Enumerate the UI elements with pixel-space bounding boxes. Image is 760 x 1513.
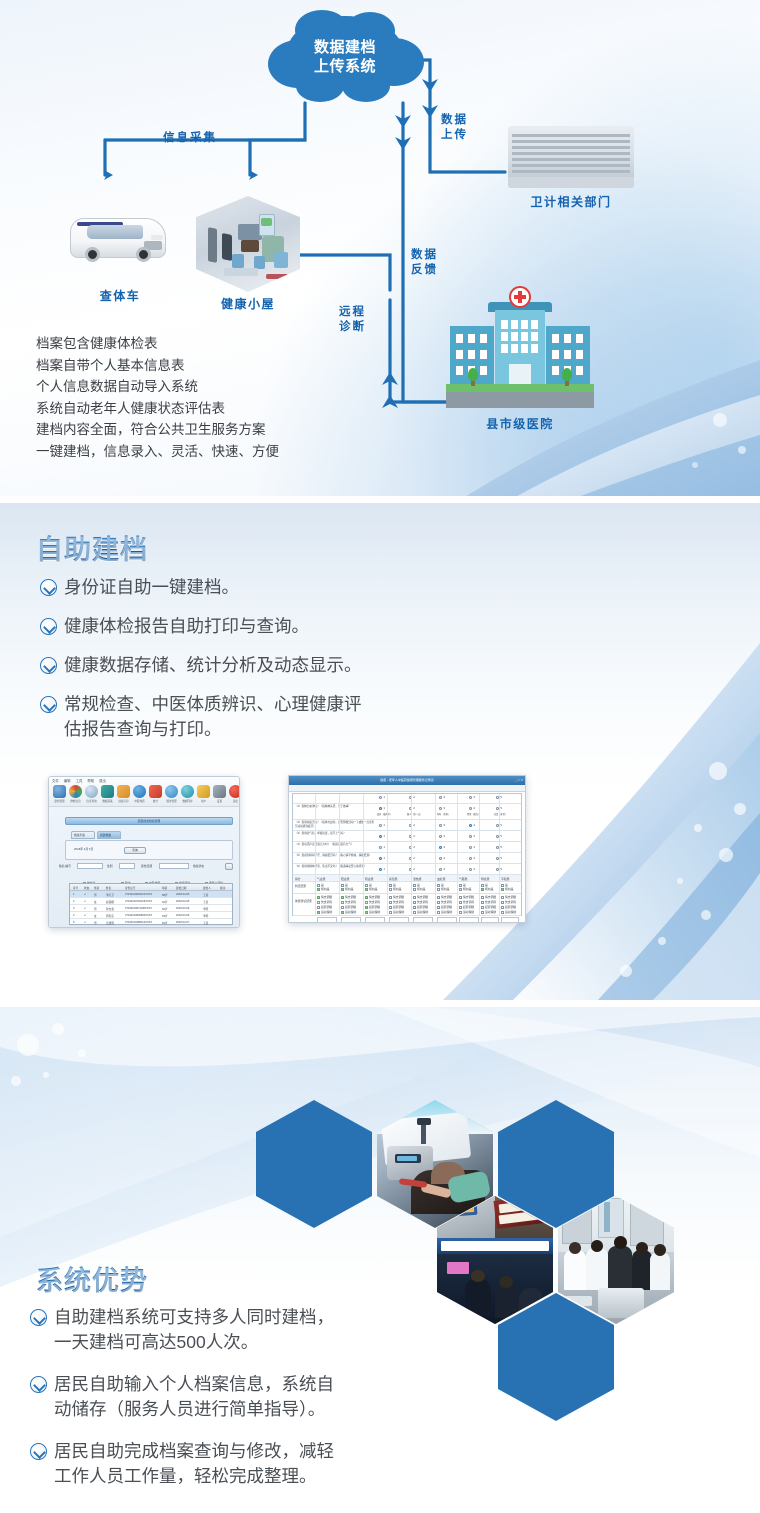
cell: 50岁: [162, 907, 167, 911]
table-row[interactable]: 1 ✔ 男 李红卫 37010219600101XXXX 58岁 2018-03…: [70, 891, 232, 898]
edge-label-collect: 信息采集: [163, 131, 217, 146]
field-label: 姓名/编号: [59, 864, 71, 868]
toolbar-button-label: 信息查询: [85, 799, 98, 803]
table-row[interactable]: 3 ✔ 男 孙志强 37010219671108XXXX 50岁 2018-03…: [70, 905, 232, 912]
hospital-cross-icon: [509, 286, 531, 308]
app-title-bar: 居民健康档案管理: [65, 817, 233, 825]
note-input[interactable]: [341, 917, 361, 923]
menu-item[interactable]: 编辑: [64, 778, 71, 783]
cell: ✔: [84, 914, 86, 917]
toolbar-button-label: 设置: [213, 799, 226, 803]
list-item: 健康体检报告自助打印与查询。: [40, 614, 510, 639]
expand-button[interactable]: [225, 863, 233, 870]
search-button[interactable]: 查询: [124, 847, 146, 854]
cell: 李明: [203, 914, 208, 918]
column-header: 序号: [73, 886, 78, 890]
question-row: （5）您感到闷闷不乐、情绪低沉吗？（指心情不愉快，情绪低落） 1 2 3 4 5: [293, 853, 521, 864]
toolbar-button[interactable]: 设置: [213, 785, 226, 803]
app-toolbar: 文件 编辑 工具 帮助 退出 建档管理 体检信息 信息查询 数据采集 档案打印 …: [49, 777, 239, 807]
flow-fact: 一键建档，信息录入、灵活、快速、方便: [36, 441, 396, 463]
toolbar-icon-row: 建档管理 体检信息 信息查询 数据采集 档案打印 中医体质 统计 随访管理 数据…: [53, 785, 240, 803]
node-label-van: 查体车: [58, 287, 182, 304]
body-type: 特禀质: [481, 877, 489, 881]
cell: 女: [94, 900, 97, 904]
cloud-node: 数据建档 上传系统: [262, 8, 428, 110]
county-hospital-image: [446, 298, 594, 408]
toolbar-button[interactable]: 体检信息: [69, 785, 82, 803]
toolbar-button-label: 体检信息: [69, 799, 82, 803]
column-header: 年龄: [162, 886, 167, 890]
cell: 男: [94, 921, 97, 925]
radio-option[interactable]: 4: [473, 806, 475, 810]
bullet-text: 身份证自助一键建档。: [64, 575, 239, 600]
node-label-county-hospital: 县市级医院: [442, 415, 598, 432]
cloud-label: 数据建档 上传系统: [262, 38, 428, 76]
cell: 37010219671108XXXX: [125, 907, 152, 910]
form-body: 1 2 3 4 5 （1）您精力充沛吗？（指精神头足，乐于做事） 1 2 3 4…: [292, 793, 522, 916]
radio-option[interactable]: 5: [500, 806, 502, 810]
cell: 63岁: [162, 914, 167, 918]
medical-van-image: [60, 200, 180, 272]
filter-panel: 2018年 4月 6日 查询: [65, 840, 233, 860]
flow-fact: 建档内容全面，符合公共卫生服务方案: [36, 419, 396, 441]
cell: ✔: [84, 921, 86, 924]
judgement-row: 判定结果 是 倾向是 是 倾向是 是 倾向是 是 倾向是 是 倾向是 是 倾向是…: [293, 882, 521, 894]
bullet-text: 健康体检报告自助打印与查询。: [64, 614, 309, 639]
tab-label: 新建档案: [100, 833, 111, 837]
toolbar-button[interactable]: 退出: [229, 785, 240, 803]
body-type-header: 得分 气虚质 阳虚质 阴虚质 痰湿质 湿热质 血瘀质 气郁质 特禀质 平和质: [293, 875, 521, 882]
filter-date-value: 2018年 4月 6日: [74, 847, 93, 851]
list-item: 自助建档系统可支持多人同时建档， 一天建档可高达500人次。: [30, 1305, 480, 1355]
cell: 王燕: [203, 900, 208, 904]
edge-label-feedback: 数据 反馈: [411, 248, 438, 278]
cell: 4: [73, 914, 74, 917]
bullet-text: 自助建档系统可支持多人同时建档， 一天建档可高达500人次。: [54, 1305, 334, 1355]
scale-option[interactable]: 5: [500, 795, 502, 799]
flow-facts-list: 档案包含健康体检表 档案自带个人基本信息表 个人信息数据自动导入系统 系统自动老…: [36, 333, 396, 463]
row-label: 得分: [295, 877, 301, 881]
advantages-bullet-list: 自助建档系统可支持多人同时建档， 一天建档可高达500人次。 居民自助输入个人档…: [30, 1305, 480, 1489]
toolbar-button-label: 用户: [197, 799, 210, 803]
health-hut-image: [196, 196, 300, 292]
toolbar-button[interactable]: 档案打印: [117, 785, 130, 803]
window-controls[interactable]: _ □ ✕: [515, 778, 523, 782]
toolbar-button-label: 建档管理: [53, 799, 66, 803]
question-row: （2）您容易疲乏吗？（指体力如何，是否稍微活动一下或做一点家务劳动就感到疲劳） …: [293, 820, 521, 831]
cell: 37010219720215XXXX: [125, 900, 152, 903]
self-service-section: 自助建档 身份证自助一键建档。 健康体检报告自助打印与查询。 健康数据存储、统计…: [0, 503, 760, 1000]
scale-option[interactable]: 4: [473, 795, 475, 799]
scale-label: 没有（根本不）: [377, 812, 392, 816]
advantages-title: 系统优势: [36, 1259, 148, 1298]
date-input[interactable]: [159, 863, 189, 869]
gender-select[interactable]: [119, 863, 135, 869]
edge-label-upload: 数据 上传: [441, 113, 468, 143]
flow-diagram-section: 数据建档 上传系统 信息采集 数据 上传 数据 反馈 远程 诊断 查体车: [0, 0, 760, 496]
edge-label-remote-diagnosis: 远程 诊断: [339, 305, 366, 335]
menu-item[interactable]: 工具: [76, 778, 83, 783]
advice-option[interactable]: 运动保健: [321, 910, 332, 914]
body-type: 痰湿质: [389, 877, 397, 881]
menu-item[interactable]: 帮助: [87, 778, 94, 783]
cell: 1: [73, 893, 74, 896]
list-item: 居民自助输入个人档案信息，系统自 动储存（服务人员进行简单指导）。: [30, 1372, 480, 1422]
section-divider-1: [0, 496, 760, 503]
cell: 37010219480612XXXX: [125, 921, 152, 924]
advantages-section: 系统优势 自助建档系统可支持多人同时建档， 一天建档可高达500人次。 居民自助…: [0, 1007, 760, 1513]
list-item: 常规检查、中医体质辨识、心理健康评 估报告查询与打印。: [40, 692, 510, 742]
table-row[interactable]: 4 ✔ 女 周秀英 37010219540820XXXX 63岁 2018-03…: [70, 912, 232, 919]
cell: 5: [73, 921, 74, 924]
toolbar-button-label: 中医体质: [133, 799, 146, 803]
list-item: 居民自助完成档案查询与修改，减轻 工作人员工作量，轻松完成整理。: [30, 1439, 480, 1489]
toolbar-button-label: 退出: [229, 799, 240, 803]
cell: ✔: [84, 900, 86, 903]
table-header-row: 序号 状态 性别 姓名 身份证号 年龄 建档日期 建档人 备注: [70, 884, 232, 891]
query-fields: 姓名/编号 性别 建档日期 档案状态 体检表 随访 中医体质 健康评估 老年人评…: [59, 863, 233, 879]
menu-item[interactable]: 文件: [52, 778, 59, 783]
toolbar-button[interactable]: 数据同步: [181, 785, 194, 803]
note-input[interactable]: [501, 917, 519, 923]
toolbar-button-label: 数据同步: [181, 799, 194, 803]
node-label-health-hut: 健康小屋: [190, 295, 306, 312]
body-type: 平和质: [501, 877, 509, 881]
note-input[interactable]: [481, 917, 499, 923]
scale-label: 有时（有些）: [437, 812, 450, 816]
form-title: 健康 - 老年人中医药健康管理服务记录表: [289, 778, 525, 782]
toolbar-button[interactable]: 信息查询: [85, 785, 98, 803]
chevron-down-circle-icon: [30, 1309, 47, 1326]
radio-option[interactable]: 2: [413, 806, 415, 810]
toolbar-button[interactable]: 建档管理: [53, 785, 66, 803]
column-header: 建档日期: [176, 886, 186, 890]
cell: 2018-03-07: [176, 921, 189, 924]
note-input[interactable]: [459, 917, 479, 923]
body-type: 湿热质: [413, 877, 421, 881]
chevron-down-circle-icon: [40, 579, 57, 596]
flow-fact: 档案自带个人基本信息表: [36, 355, 396, 377]
app-menubar[interactable]: 文件 编辑 工具 帮助 退出: [52, 778, 106, 783]
column-header: 建档人: [203, 886, 211, 890]
list-item: 健康数据存储、统计分析及动态显示。: [40, 653, 510, 678]
flow-fact: 个人信息数据自动导入系统: [36, 376, 396, 398]
cell: 46岁: [162, 900, 167, 904]
note-input[interactable]: [365, 917, 385, 923]
toolbar-button[interactable]: 中医体质: [133, 785, 146, 803]
chevron-down-circle-icon: [40, 618, 57, 635]
body-type: 阳虚质: [341, 877, 349, 881]
toolbar-button-label: 统计: [149, 799, 162, 803]
scale-header: 1 2 3 4 5: [293, 794, 521, 804]
cell: 2018-03-05: [176, 893, 189, 896]
cell: 周秀英: [106, 914, 114, 918]
search-button-label: 查询: [125, 848, 145, 852]
bullet-text: 健康数据存储、统计分析及动态显示。: [64, 653, 362, 678]
body-type: 气郁质: [459, 877, 467, 881]
cell: 58岁: [162, 893, 167, 897]
node-label-gov-dept: 卫计相关部门: [506, 193, 636, 210]
cell: 王燕: [203, 921, 208, 925]
cell: 37010219540820XXXX: [125, 914, 152, 917]
scale-option[interactable]: 3: [443, 795, 445, 799]
column-header: 姓名: [106, 886, 111, 890]
chevron-down-circle-icon: [30, 1443, 47, 1460]
cell: 69岁: [162, 921, 167, 925]
archive-table[interactable]: 序号 状态 性别 姓名 身份证号 年龄 建档日期 建档人 备注 1 ✔ 男 李红…: [69, 883, 233, 925]
bullet-text: 常规检查、中医体质辨识、心理健康评 估报告查询与打印。: [64, 692, 362, 742]
cell: 赵丽娜: [106, 900, 114, 904]
scale-label: 总是（非常）: [494, 812, 507, 816]
body-type: 血瘀质: [437, 877, 445, 881]
toolbar-button[interactable]: 用户: [197, 785, 210, 803]
tab-archive-list[interactable]: 档案列表: [71, 831, 95, 839]
cell: 男: [94, 907, 97, 911]
chevron-down-circle-icon: [30, 1376, 47, 1393]
cell: ✔: [84, 893, 86, 896]
advice-option[interactable]: 起居调摄: [321, 905, 332, 909]
toolbar-button[interactable]: 统计: [149, 785, 162, 803]
tab-new-archive[interactable]: 新建档案: [97, 831, 121, 839]
form-title-bar: 健康 - 老年人中医药健康管理服务记录表 _ □ ✕: [289, 776, 525, 785]
cloud-label-line2: 上传系统: [262, 57, 428, 76]
body-type: 气虚质: [317, 877, 325, 881]
body-type: 阴虚质: [365, 877, 373, 881]
form-toolbar[interactable]: [289, 785, 525, 792]
cell: 吴建国: [106, 921, 114, 925]
cell: 李明: [203, 907, 208, 911]
app-title-text: 居民健康档案管理: [66, 819, 232, 823]
toolbar-button[interactable]: 数据采集: [101, 785, 114, 803]
advice-option[interactable]: 情志调摄: [321, 895, 332, 899]
cell: 37010219600101XXXX: [125, 893, 152, 896]
cell: 2018-03-06: [176, 914, 189, 917]
table-row[interactable]: 2 ✔ 女 赵丽娜 37010219720215XXXX 46岁 2018-03…: [70, 898, 232, 905]
advice-row: 体质辨识结果 情志调摄 饮食调养 起居调摄 运动保健 情志调摄 饮食调养 起居调…: [293, 894, 521, 916]
app-body: 居民健康档案管理 档案列表 新建档案 2018年 4月 6日 查询 姓名/编号 …: [49, 807, 239, 927]
cell: ✔: [84, 907, 86, 910]
note-input[interactable]: [413, 917, 433, 923]
row-label: 体质辨识结果: [295, 900, 315, 903]
scale-label: 很少（有一点）: [407, 812, 422, 816]
section-divider-2: [0, 1000, 760, 1007]
bullet-text: 居民自助输入个人档案信息，系统自 动储存（服务人员进行简单指导）。: [54, 1372, 334, 1422]
cell: 3: [73, 907, 74, 910]
column-header: 状态: [84, 886, 89, 890]
list-item: 身份证自助一键建档。: [40, 575, 510, 600]
question-row: （4）您说话声音低弱无力吗？（指说话没有力气） 1 2 3 4 5: [293, 842, 521, 853]
cell: 孙志强: [106, 907, 114, 911]
cell: 2018-03-06: [176, 907, 189, 910]
cell: 2: [73, 900, 74, 903]
scale-option[interactable]: 2: [413, 795, 415, 799]
toolbar-button-label: 随访管理: [165, 799, 178, 803]
screenshot-archive-app[interactable]: 文件 编辑 工具 帮助 退出 建档管理 体检信息 信息查询 数据采集 档案打印 …: [48, 776, 240, 928]
chevron-down-circle-icon: [40, 696, 57, 713]
bullet-text: 居民自助完成档案查询与修改，减轻 工作人员工作量，轻松完成整理。: [54, 1439, 334, 1489]
self-service-title: 自助建档: [36, 528, 148, 567]
screenshot-tcm-questionnaire[interactable]: 健康 - 老年人中医药健康管理服务记录表 _ □ ✕ 1 2 3 4 5 （1）…: [288, 775, 526, 923]
field-label: 性别: [107, 864, 113, 868]
column-header: 身份证号: [125, 886, 135, 890]
government-building-image: [508, 126, 634, 188]
cell: 王燕: [203, 893, 208, 897]
cell: 2018-03-05: [176, 900, 189, 903]
self-service-bullet-list: 身份证自助一键建档。 健康体检报告自助打印与查询。 健康数据存储、统计分析及动态…: [40, 575, 510, 756]
cell: 女: [94, 914, 97, 918]
column-header: 备注: [220, 886, 225, 890]
table-row[interactable]: 6 ✔ 女 郑晓燕 37010219811217XXXX 36岁 2018-03…: [70, 926, 232, 928]
column-header: 性别: [94, 886, 99, 890]
tab-label: 档案列表: [74, 833, 85, 837]
cell: 李红卫: [106, 893, 114, 897]
note-input[interactable]: [317, 917, 337, 923]
row-label: 判定结果: [295, 884, 306, 888]
hex-solid-left: [256, 1100, 372, 1228]
question-row: （3）您容易气短，呼吸短促，接不上气吗？ 1 2 3 4 5: [293, 831, 521, 842]
menu-item[interactable]: 退出: [99, 778, 106, 783]
question-row: （6）您容易精神紧张、焦虑不安吗？（指遇事是否心情紧张） 1 2 3 4 5: [293, 864, 521, 875]
chevron-down-circle-icon: [40, 657, 57, 674]
judge-option[interactable]: 倾向是: [321, 887, 329, 891]
toolbar-button-label: 数据采集: [101, 799, 114, 803]
question-row: （1）您精力充沛吗？（指精神头足，乐于做事） 1 2 3 4 5 没有（根本不）…: [293, 804, 521, 820]
toolbar-button[interactable]: 随访管理: [165, 785, 178, 803]
note-input[interactable]: [389, 917, 409, 923]
field-label: 建档日期: [141, 864, 152, 868]
flow-fact: 系统自动老年人健康状态评估表: [36, 398, 396, 420]
table-row[interactable]: 5 ✔ 男 吴建国 37010219480612XXXX 69岁 2018-03…: [70, 919, 232, 926]
name-input[interactable]: [77, 863, 103, 869]
advice-option[interactable]: 饮食调养: [321, 900, 332, 904]
radio-option[interactable]: 3: [443, 806, 445, 810]
cloud-label-line1: 数据建档: [262, 38, 428, 57]
note-input[interactable]: [437, 917, 457, 923]
radio-option[interactable]: 1: [383, 806, 385, 810]
field-label: 档案状态: [193, 864, 204, 868]
toolbar-button-label: 档案打印: [117, 799, 130, 803]
flow-fact: 档案包含健康体检表: [36, 333, 396, 355]
scale-option[interactable]: 1: [383, 795, 385, 799]
cell: 男: [94, 893, 97, 897]
